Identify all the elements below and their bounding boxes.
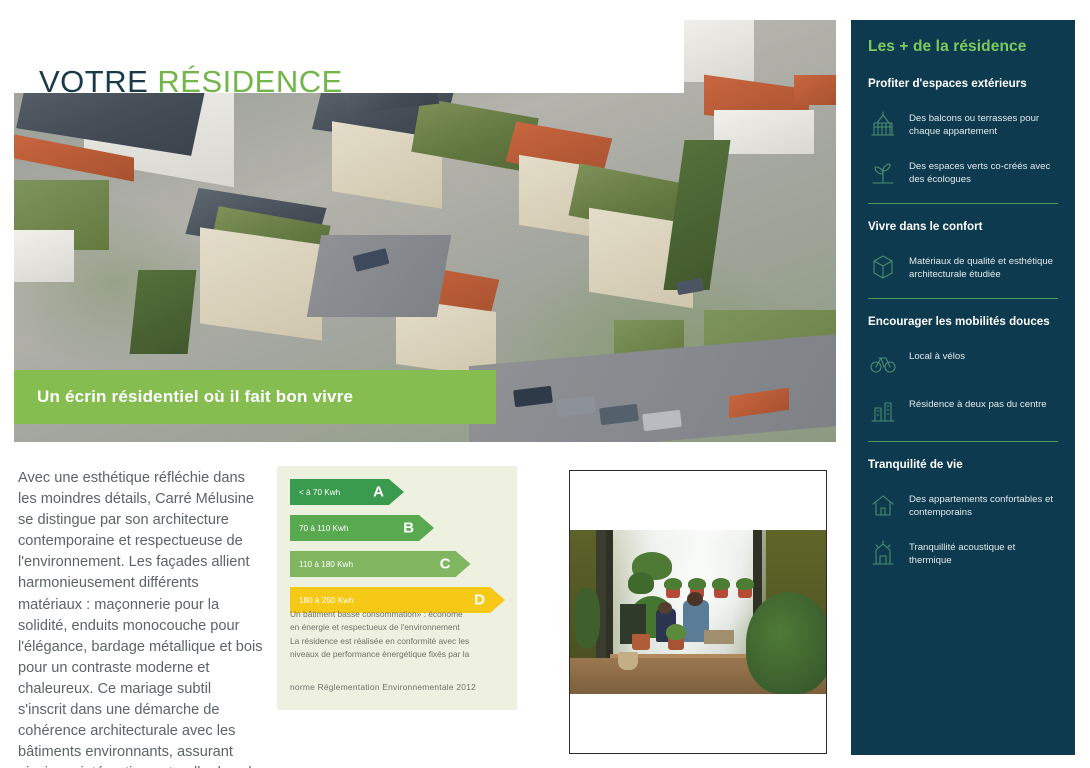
balcony-terrace-icon	[868, 109, 898, 139]
energy-bar-grade: C	[440, 556, 451, 573]
energy-bar: 70 à 110 KwhB	[290, 515, 434, 541]
watermark-label: © EtreProprio.com	[20, 42, 147, 59]
energy-bar-range: 180 à 250 Kwh	[290, 596, 354, 605]
sidebar-feature-item: Des appartements confortables et contemp…	[868, 489, 1058, 520]
sidebar-feature-item: Matériaux de qualité et esthétique archi…	[868, 251, 1058, 282]
sidebar-feature-label: Des appartements confortables et contemp…	[909, 489, 1058, 519]
sidebar-group: Tranquilité de vieDes appartements confo…	[868, 457, 1058, 568]
energy-note-line: en énergie et respectueux de l'environne…	[290, 621, 508, 634]
energy-bar-chart: < à 70 KwhA70 à 110 KwhB110 à 180 KwhC18…	[290, 479, 505, 623]
energy-note-line: niveaux de performance énergétique fixés…	[290, 648, 508, 661]
energy-bar-grade: A	[373, 484, 384, 501]
description-column: Avec une esthétique réfléchie dans les m…	[18, 468, 263, 768]
energy-norm-line: norme Réglementation Environnementale 20…	[290, 681, 508, 694]
energy-bar-range: 110 à 180 Kwh	[290, 560, 353, 569]
sidebar-divider	[868, 203, 1058, 204]
sidebar-feature-item: Résidence à deux pas du centre	[868, 394, 1058, 425]
energy-bar: 110 à 180 KwhC	[290, 551, 471, 577]
energy-bar-row: 110 à 180 KwhC	[290, 551, 505, 577]
sidebar-feature-item: Des espaces verts co-créés avec des écol…	[868, 156, 1058, 187]
sidebar-group-title: Encourager les mobilités douces	[868, 314, 1058, 329]
energy-bar-row: 70 à 110 KwhB	[290, 515, 505, 541]
city-center-icon	[868, 395, 898, 425]
sidebar-feature-label: Résidence à deux pas du centre	[909, 394, 1047, 411]
energy-note: Un bâtiment basse consommation» : économ…	[290, 608, 508, 694]
sidebar-group: Vivre dans le confortMatériaux de qualit…	[868, 219, 1058, 282]
lifestyle-photo	[569, 530, 827, 694]
sidebar-feature-label: Local à vélos	[909, 346, 965, 363]
sidebar-feature-item: Des balcons ou terrasses pour chaque app…	[868, 108, 1058, 139]
sidebar-groups: Profiter d'espaces extérieursDes balcons…	[868, 76, 1058, 568]
energy-bar: < à 70 KwhA	[290, 479, 404, 505]
acoustic-thermal-icon	[868, 538, 898, 568]
sidebar-feature-label: Tranquillité acoustique et thermique	[909, 537, 1058, 567]
page-title-accent: RÉSIDENCE	[157, 64, 342, 99]
sidebar-feature-label: Matériaux de qualité et esthétique archi…	[909, 251, 1058, 281]
advantages-sidebar: Les + de la résidence Profiter d'espaces…	[851, 20, 1075, 755]
sidebar-title: Les + de la résidence	[868, 38, 1058, 56]
sidebar-group: Encourager les mobilités doucesLocal à v…	[868, 314, 1058, 425]
energy-performance-panel: < à 70 KwhA70 à 110 KwhB110 à 180 KwhC18…	[277, 466, 517, 710]
energy-note-line: La résidence est réalisée en conformité …	[290, 635, 508, 648]
page-title: VOTRE RÉSIDENCE	[39, 64, 343, 100]
energy-bar-range: 70 à 110 Kwh	[290, 524, 348, 533]
brochure-page: © EtreProprio.com VOTRE RÉSIDENCE Un écr…	[0, 0, 1090, 768]
sidebar-group-title: Profiter d'espaces extérieurs	[868, 76, 1058, 91]
sidebar-divider	[868, 441, 1058, 442]
energy-bar-range: < à 70 Kwh	[290, 488, 340, 497]
page-title-primary: VOTRE	[39, 64, 148, 99]
sidebar-group-title: Tranquilité de vie	[868, 457, 1058, 472]
quality-materials-icon	[868, 252, 898, 282]
description-paragraph: Avec une esthétique réfléchie dans les m…	[18, 468, 263, 768]
sidebar-divider	[868, 298, 1058, 299]
lifestyle-photo-frame	[569, 470, 827, 754]
hero-banner: Un écrin résidentiel où il fait bon vivr…	[14, 370, 496, 424]
sidebar-feature-item: Tranquillité acoustique et thermique	[868, 537, 1058, 568]
sidebar-feature-label: Des balcons ou terrasses pour chaque app…	[909, 108, 1058, 138]
energy-bar-grade: D	[474, 592, 485, 609]
bicycle-storage-icon	[868, 347, 898, 377]
sidebar-group: Profiter d'espaces extérieursDes balcons…	[868, 76, 1058, 187]
hero-banner-text: Un écrin résidentiel où il fait bon vivr…	[14, 387, 353, 407]
energy-bar-grade: B	[403, 520, 414, 537]
energy-bar-row: < à 70 KwhA	[290, 479, 505, 505]
sidebar-feature-item: Local à vélos	[868, 346, 1058, 377]
energy-note-line: Un bâtiment basse consommation» : économ…	[290, 608, 508, 621]
comfortable-apartment-icon	[868, 490, 898, 520]
sidebar-group-title: Vivre dans le confort	[868, 219, 1058, 234]
sidebar-feature-label: Des espaces verts co-créés avec des écol…	[909, 156, 1058, 186]
hero-section: © EtreProprio.com VOTRE RÉSIDENCE Un écr…	[14, 20, 836, 442]
green-space-icon	[868, 157, 898, 187]
